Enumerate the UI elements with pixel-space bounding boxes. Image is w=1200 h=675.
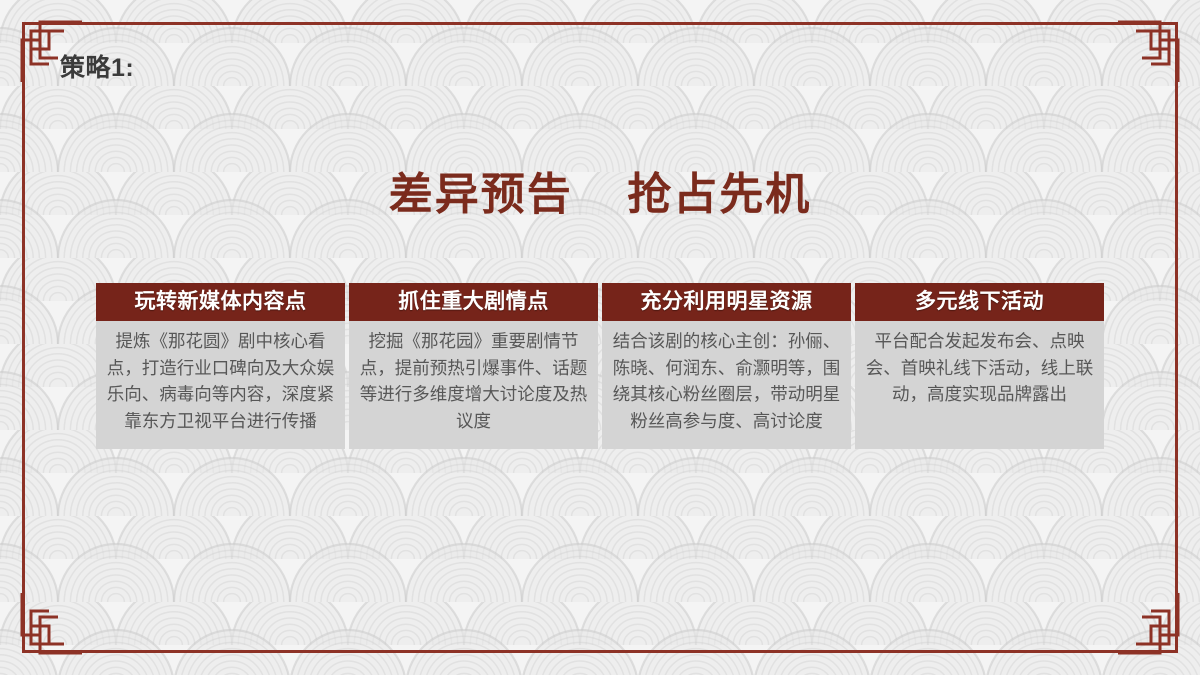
page-title: 差异预告 抢占先机 (0, 158, 1200, 222)
strategy-card-body-text: 挖掘《那花园》重要剧情节点，提前预热引爆事件、话题等进行多维度增大讨论度及热议度 (359, 328, 588, 434)
slide-label: 策略1: (60, 48, 134, 84)
strategy-card-heading: 多元线下活动 (855, 283, 1104, 321)
chinese-fret-corner-icon-bottom-left (16, 593, 82, 659)
page-title-part-2: 抢占先机 (627, 170, 811, 219)
strategy-card-list: 玩转新媒体内容点 提炼《那花圆》剧中核心看点，打造行业口碑向及大众娱乐向、病毒向… (96, 283, 1106, 449)
strategy-card-body: 提炼《那花圆》剧中核心看点，打造行业口碑向及大众娱乐向、病毒向等内容，深度紧靠东… (96, 321, 345, 449)
chinese-fret-corner-icon-bottom-right (1118, 593, 1184, 659)
frame-border-left (22, 22, 25, 653)
strategy-card-heading: 玩转新媒体内容点 (96, 283, 345, 321)
page-title-part-1: 差异预告 (389, 170, 573, 219)
slide-canvas: 策略1: 差异预告 抢占先机 玩转新媒体内容点 提炼《那花圆》剧中核心看点，打造… (0, 0, 1200, 675)
strategy-card-heading: 抓住重大剧情点 (349, 283, 598, 321)
strategy-card: 多元线下活动 平台配合发起发布会、点映会、首映礼线下活动，线上联动，高度实现品牌… (855, 283, 1104, 449)
strategy-card-body: 挖掘《那花园》重要剧情节点，提前预热引爆事件、话题等进行多维度增大讨论度及热议度 (349, 321, 598, 449)
frame-border-bottom (22, 650, 1178, 653)
frame-border-top (22, 22, 1178, 25)
strategy-card-body: 结合该剧的核心主创：孙俪、陈晓、何润东、俞灏明等，围绕其核心粉丝圈层，带动明星粉… (602, 321, 851, 449)
strategy-card-body-text: 平台配合发起发布会、点映会、首映礼线下活动，线上联动，高度实现品牌露出 (865, 328, 1094, 408)
strategy-card: 玩转新媒体内容点 提炼《那花圆》剧中核心看点，打造行业口碑向及大众娱乐向、病毒向… (96, 283, 345, 449)
strategy-card-heading: 充分利用明星资源 (602, 283, 851, 321)
strategy-card: 抓住重大剧情点 挖掘《那花园》重要剧情节点，提前预热引爆事件、话题等进行多维度增… (349, 283, 598, 449)
strategy-card: 充分利用明星资源 结合该剧的核心主创：孙俪、陈晓、何润东、俞灏明等，围绕其核心粉… (602, 283, 851, 449)
strategy-card-body: 平台配合发起发布会、点映会、首映礼线下活动，线上联动，高度实现品牌露出 (855, 321, 1104, 449)
chinese-fret-corner-icon-top-right (1118, 16, 1184, 82)
strategy-card-body-text: 提炼《那花圆》剧中核心看点，打造行业口碑向及大众娱乐向、病毒向等内容，深度紧靠东… (106, 328, 335, 434)
strategy-card-body-text: 结合该剧的核心主创：孙俪、陈晓、何润东、俞灏明等，围绕其核心粉丝圈层，带动明星粉… (612, 328, 841, 434)
frame-border-right (1175, 22, 1178, 653)
